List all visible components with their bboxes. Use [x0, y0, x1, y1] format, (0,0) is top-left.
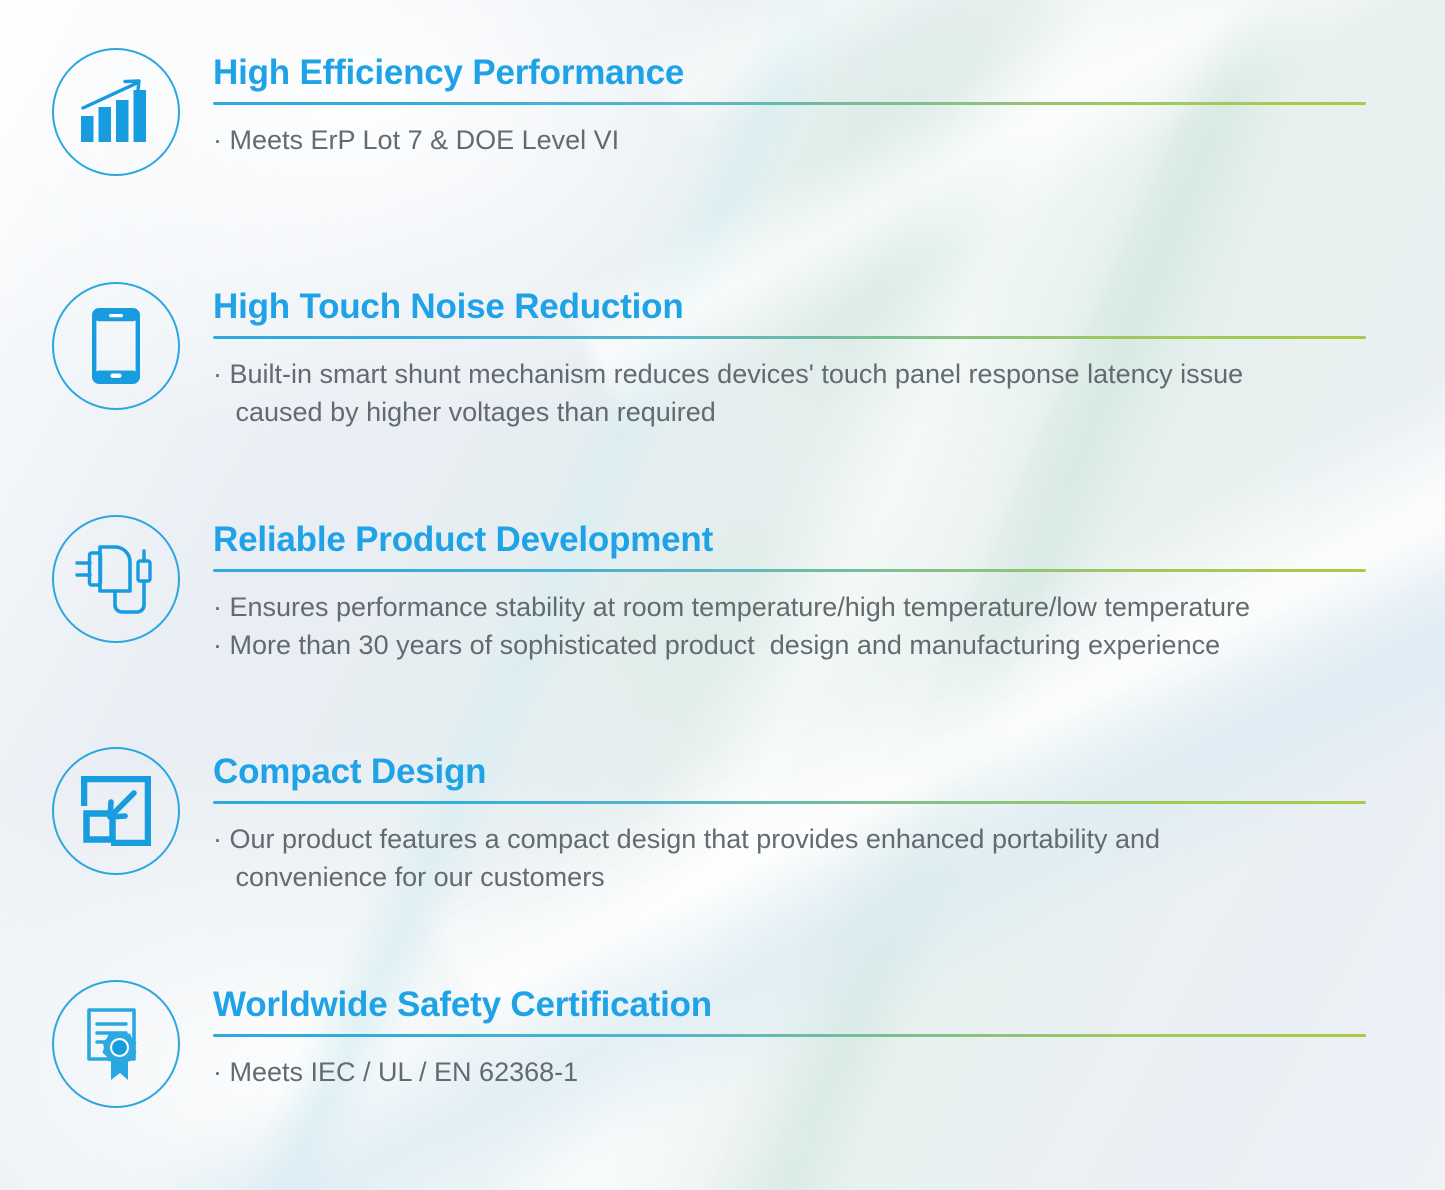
feature-bullet: · Built-in smart shunt mechanism reduces… [213, 355, 1366, 393]
feature-title: Compact Design [213, 751, 1366, 793]
feature-description: · Ensures performance stability at room … [213, 588, 1366, 664]
feature-text-block: High Touch Noise Reduction · Built-in sm… [213, 280, 1366, 431]
power-adapter-icon [75, 543, 157, 615]
feature-text-block: Compact Design · Our product features a … [213, 745, 1366, 896]
feature-divider [213, 102, 1366, 105]
feature-list: High Efficiency Performance · Meets ErP … [0, 0, 1445, 1190]
feature-item-reliable-product-development: Reliable Product Development · Ensures p… [52, 513, 1366, 664]
feature-bullet: caused by higher voltages than required [213, 393, 1366, 431]
feature-description: · Our product features a compact design … [213, 820, 1366, 896]
feature-item-worldwide-safety-certification: Worldwide Safety Certification · Meets I… [52, 978, 1366, 1108]
feature-icon-circle [52, 48, 180, 176]
feature-bullet: · Ensures performance stability at room … [213, 588, 1366, 626]
feature-icon-circle [52, 980, 180, 1108]
feature-divider [213, 801, 1366, 804]
feature-text-block: High Efficiency Performance · Meets ErP … [213, 46, 1366, 159]
smartphone-icon [92, 308, 140, 384]
feature-icon-circle [52, 282, 180, 410]
feature-bullet: · Our product features a compact design … [213, 820, 1366, 858]
feature-description: · Built-in smart shunt mechanism reduces… [213, 355, 1366, 431]
feature-icon-circle [52, 515, 180, 643]
feature-bullet: convenience for our customers [213, 858, 1366, 896]
feature-divider [213, 1034, 1366, 1037]
feature-title: High Efficiency Performance [213, 52, 1366, 94]
feature-icon-circle [52, 747, 180, 875]
feature-bullet: · Meets IEC / UL / EN 62368-1 [213, 1053, 1366, 1091]
feature-item-high-touch-noise-reduction: High Touch Noise Reduction · Built-in sm… [52, 280, 1366, 431]
certificate-seal-icon [81, 1007, 151, 1081]
feature-divider [213, 336, 1366, 339]
compress-square-icon [81, 776, 151, 846]
feature-text-block: Reliable Product Development · Ensures p… [213, 513, 1366, 664]
feature-divider [213, 569, 1366, 572]
feature-bullet: · More than 30 years of sophisticated pr… [213, 626, 1366, 664]
feature-title: Worldwide Safety Certification [213, 984, 1366, 1026]
feature-description: · Meets ErP Lot 7 & DOE Level VI [213, 121, 1366, 159]
bar-chart-growth-icon [79, 78, 153, 146]
feature-item-high-efficiency-performance: High Efficiency Performance · Meets ErP … [52, 46, 1366, 176]
feature-bullet: · Meets ErP Lot 7 & DOE Level VI [213, 121, 1366, 159]
feature-text-block: Worldwide Safety Certification · Meets I… [213, 978, 1366, 1091]
feature-item-compact-design: Compact Design · Our product features a … [52, 745, 1366, 896]
feature-description: · Meets IEC / UL / EN 62368-1 [213, 1053, 1366, 1091]
feature-title: High Touch Noise Reduction [213, 286, 1366, 328]
feature-title: Reliable Product Development [213, 519, 1366, 561]
